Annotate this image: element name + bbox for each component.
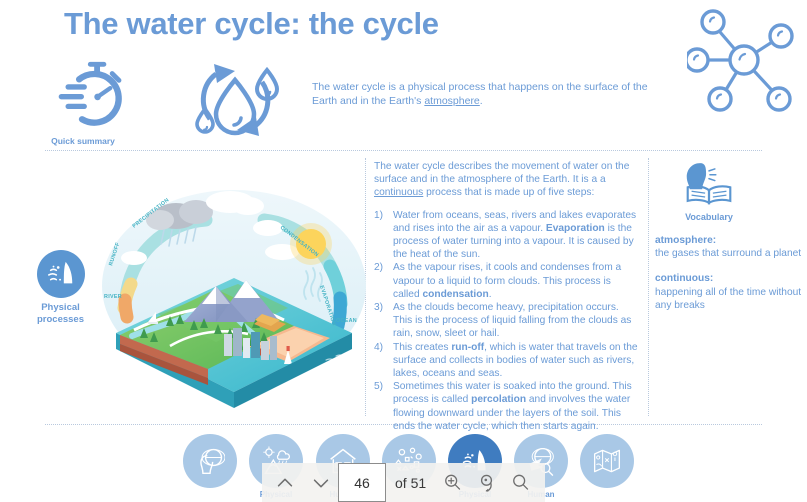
step-number: 1) <box>374 209 383 222</box>
vocabulary-entry: atmosphere:the gases that surround a pla… <box>655 234 803 260</box>
footer-nav-item[interactable] <box>172 434 248 488</box>
step-text: As the clouds become heavy, precipitatio… <box>393 302 631 339</box>
pdf-toolbar: of 51 <box>262 463 545 502</box>
waterfall-icon <box>37 250 85 298</box>
label-river: RIVER <box>104 294 122 300</box>
speaking-head-book-icon <box>679 192 739 209</box>
step-item: 3)As the clouds become heavy, precipitat… <box>374 301 640 341</box>
vocabulary-definition: happening all of the time without any br… <box>655 287 801 311</box>
step-number: 2) <box>374 261 383 274</box>
vocabulary-term: atmosphere: <box>655 234 803 247</box>
quick-summary-badge: Quick summary <box>28 58 138 147</box>
water-droplet-cycle-icon <box>178 52 298 152</box>
step-number: 5) <box>374 380 383 393</box>
vocabulary-definition: the gases that surround a planet <box>655 248 801 259</box>
intro-text-c: . <box>480 95 483 107</box>
summary-band: Quick summary <box>0 52 807 147</box>
zoom-in-icon[interactable] <box>435 466 469 500</box>
chevron-down-icon[interactable] <box>304 466 338 500</box>
vocabulary-entries: atmosphere:the gases that surround a pla… <box>655 234 803 312</box>
folded-map-icon[interactable] <box>580 434 634 488</box>
step-item: 5)Sometimes this water is soaked into th… <box>374 380 640 433</box>
vocabulary-badge: Vocabulary <box>667 160 751 222</box>
atmosphere-link[interactable]: atmosphere <box>424 95 479 107</box>
lead-paragraph: The water cycle describes the movement o… <box>374 160 640 200</box>
footer-nav-item[interactable] <box>569 434 645 488</box>
water-droplet-cycle-badge <box>178 52 298 152</box>
step-item: 4)This creates run-off, which is water t… <box>374 341 640 381</box>
label-ocean: OCEAN <box>336 318 357 324</box>
page-number-input[interactable] <box>338 463 386 502</box>
step-text: This creates <box>393 342 451 353</box>
step-keyword: run-off <box>451 342 484 353</box>
vocabulary-term: continuous: <box>655 272 803 285</box>
stopwatch-icon <box>28 58 138 133</box>
rotate-icon[interactable] <box>469 466 503 500</box>
step-item: 1)Water from oceans, seas, rivers and la… <box>374 209 640 262</box>
intro-text-a: The water cycle is a physical process th… <box>312 81 648 93</box>
body-text-column: The water cycle describes the movement o… <box>374 160 640 433</box>
steps-list: 1)Water from oceans, seas, rivers and la… <box>374 209 640 433</box>
search-icon[interactable] <box>503 466 537 500</box>
document-page: The water cycle: the cycle <box>0 0 807 502</box>
lead-text-b: process that is made up of five steps: <box>423 187 594 198</box>
physical-processes-label: Physicalprocesses <box>13 302 108 326</box>
chevron-up-icon[interactable] <box>268 466 302 500</box>
physical-processes-badge: Physicalprocesses <box>13 250 108 326</box>
continuous-link[interactable]: continuous <box>374 187 423 198</box>
step-number: 3) <box>374 301 383 314</box>
divider-vertical-right <box>648 158 649 416</box>
vocabulary-entry: continuous:happening all of the time wit… <box>655 272 803 312</box>
quick-summary-label: Quick summary <box>28 136 138 147</box>
page-count-label: of 51 <box>395 475 426 491</box>
step-keyword: condensation <box>422 289 488 300</box>
human-head-globe-icon[interactable] <box>183 434 237 488</box>
vocabulary-column: Vocabulary atmosphere:the gases that sur… <box>655 160 803 312</box>
intro-text-b: Earth and in the Earth's <box>312 95 424 107</box>
water-cycle-isometric-diagram: PRECIPITATION RUNOFF RIVER CONDENSATION … <box>98 186 370 420</box>
step-item: 2)As the vapour rises, it cools and cond… <box>374 261 640 301</box>
lead-text-a: The water cycle describes the movement o… <box>374 161 629 185</box>
intro-text: The water cycle is a physical process th… <box>312 80 652 108</box>
step-number: 4) <box>374 341 383 354</box>
step-text: . <box>489 289 492 300</box>
divider-top <box>45 150 762 151</box>
vocabulary-heading: Vocabulary <box>667 212 751 222</box>
step-keyword: percolation <box>471 394 526 405</box>
step-keyword: Evaporation <box>546 223 605 234</box>
page-title: The water cycle: the cycle <box>64 6 439 42</box>
